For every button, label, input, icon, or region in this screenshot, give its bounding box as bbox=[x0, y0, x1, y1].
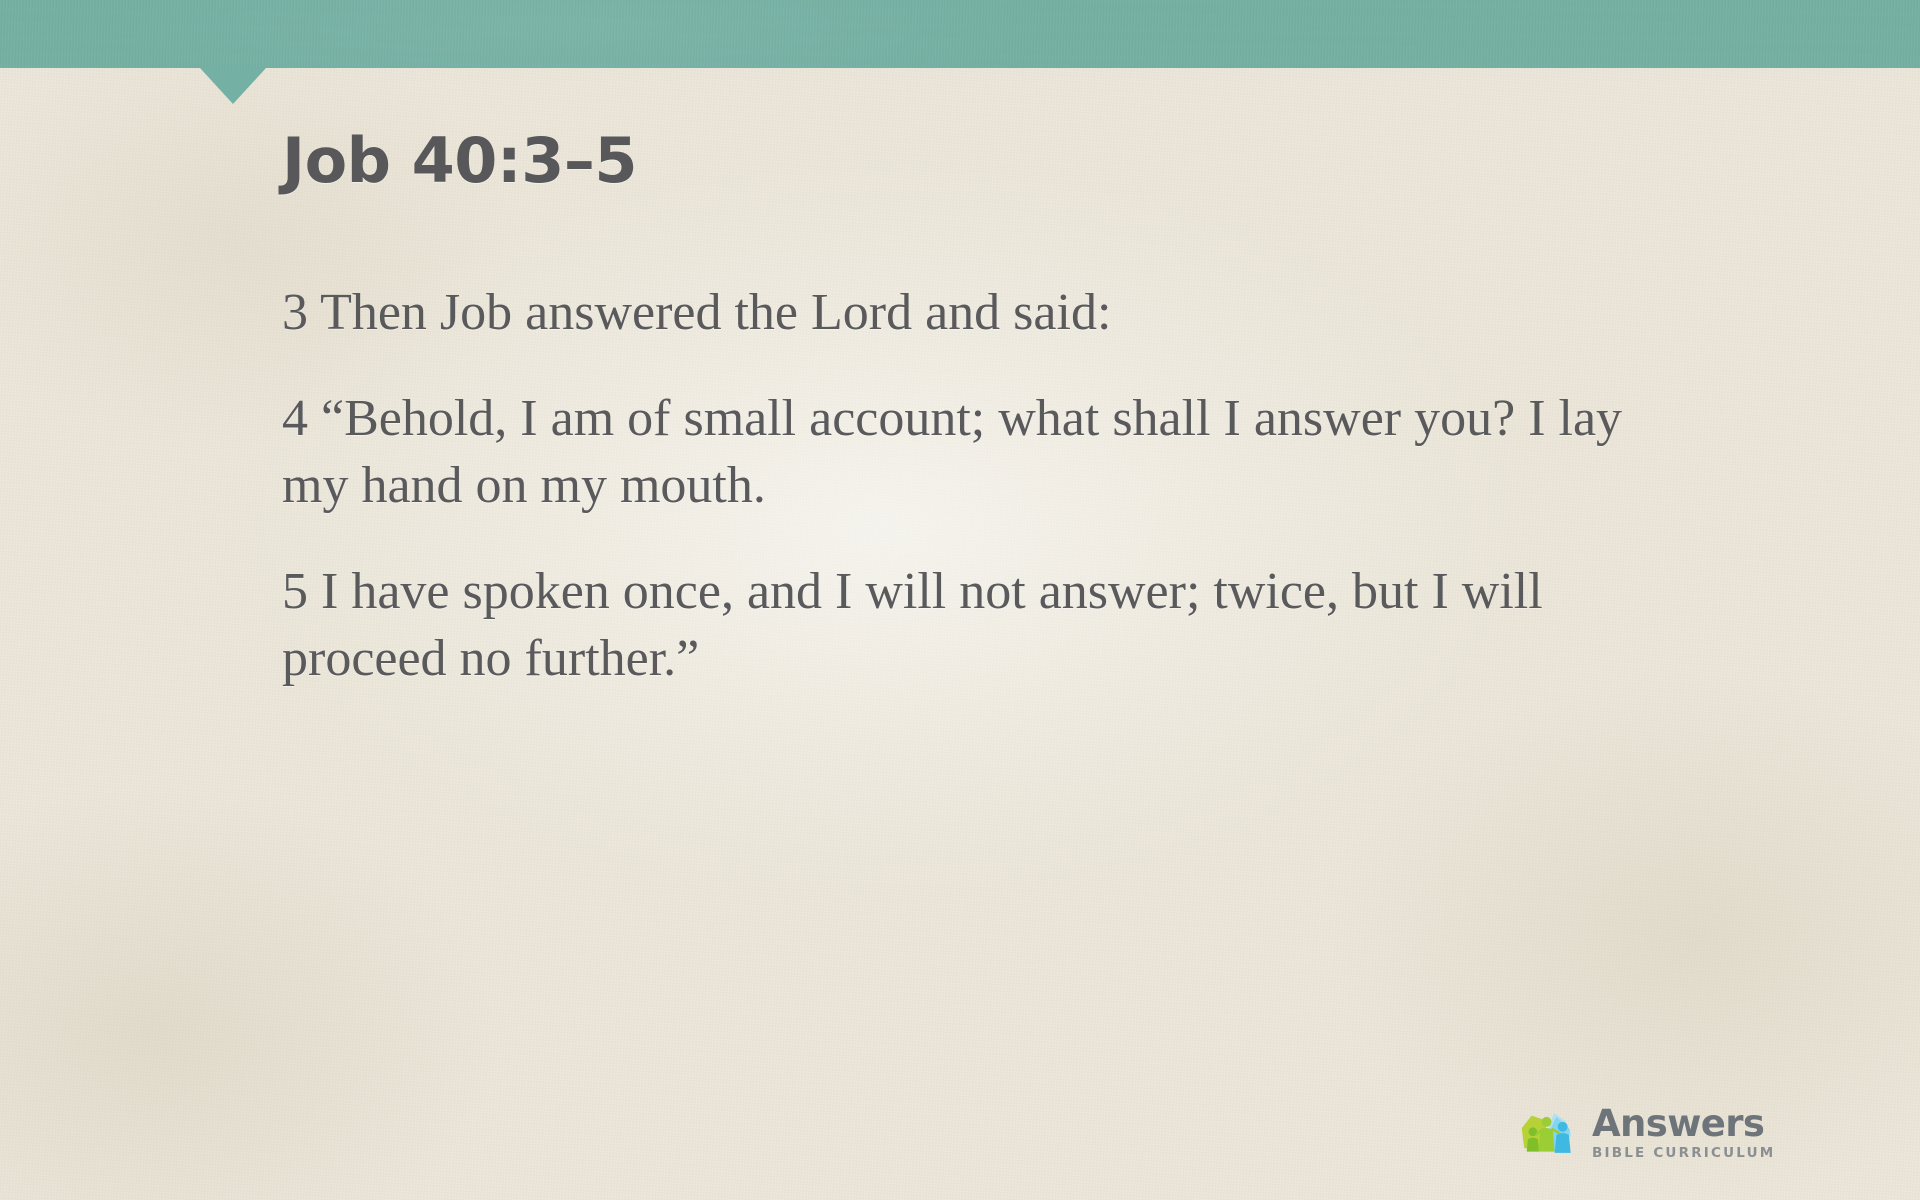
logo-wordmark: Answers bbox=[1592, 1105, 1775, 1142]
triangle-down-icon bbox=[200, 68, 266, 104]
verse-number: 4 bbox=[282, 390, 308, 447]
verse-text: Then Job answered the Lord and said: bbox=[320, 284, 1111, 341]
brand-logo: Answers BIBLE CURRICULUM bbox=[1518, 1102, 1775, 1164]
verse-paragraph: 5 I have spoken once, and I will not ans… bbox=[282, 558, 1662, 693]
verse-paragraph: 3 Then Job answered the Lord and said: bbox=[282, 279, 1662, 347]
verse-paragraph: 4 “Behold, I am of small account; what s… bbox=[282, 385, 1662, 520]
answers-people-house-icon bbox=[1518, 1102, 1580, 1164]
page-title: Job 40:3–5 bbox=[282, 128, 1722, 193]
slide-canvas: Job 40:3–5 3 Then Job answered the Lord … bbox=[0, 0, 1920, 1200]
logo-text-group: Answers BIBLE CURRICULUM bbox=[1592, 1105, 1775, 1161]
header-bar bbox=[0, 0, 1920, 68]
verse-text: “Behold, I am of small account; what sha… bbox=[282, 390, 1622, 515]
slide-content: Job 40:3–5 3 Then Job answered the Lord … bbox=[282, 128, 1722, 693]
verse-number: 5 bbox=[282, 563, 308, 620]
verse-text: I have spoken once, and I will not answe… bbox=[282, 563, 1543, 688]
verse-list: 3 Then Job answered the Lord and said: 4… bbox=[282, 279, 1722, 693]
logo-tagline: BIBLE CURRICULUM bbox=[1592, 1147, 1775, 1161]
verse-number: 3 bbox=[282, 284, 308, 341]
